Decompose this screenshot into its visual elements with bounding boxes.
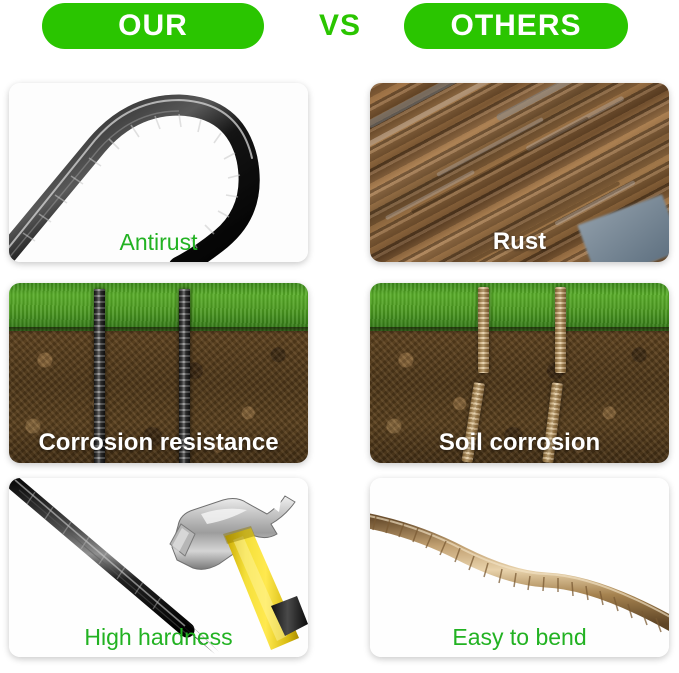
card-theirs-soil-corrosion: Soil corrosion [370,283,669,463]
comparison-header: OUR VS OTHERS [0,0,679,60]
grass-texture [9,283,308,331]
card-ours-high-hardness: High hardness [9,478,308,657]
rusty-stake-right-upper [555,287,566,373]
soil-surface-shadow [370,327,669,334]
caption-easy-to-bend: Easy to bend [370,624,669,651]
our-pill: OUR [42,3,264,49]
caption-rust: Rust [370,228,669,256]
caption-corrosion-resistance: Corrosion resistance [9,429,308,457]
card-ours-antirust: Antirust [9,83,308,262]
our-pill-label: OUR [118,9,188,43]
grass-texture [370,283,669,331]
vs-label: VS [300,3,380,49]
card-theirs-rust: Rust [370,83,669,262]
others-pill-label: OTHERS [450,9,581,43]
rusty-stake-left-upper [478,287,489,373]
card-ours-corrosion-resistance: Corrosion resistance [9,283,308,463]
others-pill: OTHERS [404,3,628,49]
soil-surface-shadow [9,327,308,334]
caption-high-hardness: High hardness [9,624,308,651]
caption-soil-corrosion: Soil corrosion [370,429,669,457]
card-theirs-easy-to-bend: Easy to bend [370,478,669,657]
caption-antirust: Antirust [9,229,308,256]
